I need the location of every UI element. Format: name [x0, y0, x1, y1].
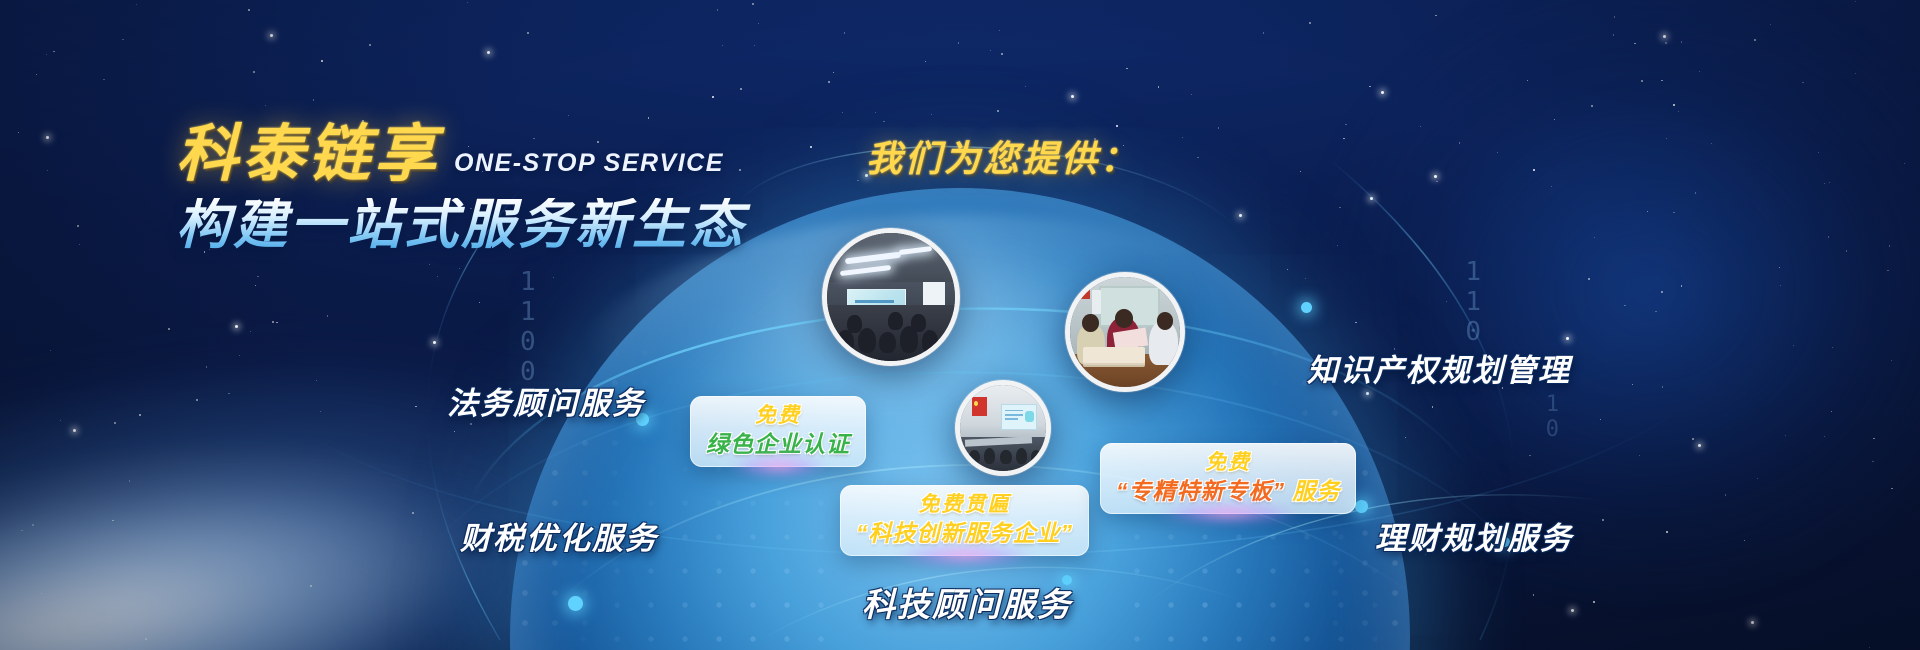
orbit-node [1301, 302, 1312, 313]
photo-training-hall [822, 228, 960, 366]
photo-classroom [955, 380, 1051, 476]
service-label-tech[interactable]: 科技顾问服务 [862, 578, 1072, 626]
headline-block: 科泰链享 ONE-STOP SERVICE 构建一站式服务新生态 [176, 124, 816, 252]
page-title: 科泰链享 [176, 124, 440, 186]
badge-green-enterprise[interactable]: 免费 绿色企业认证 [690, 396, 866, 467]
binary-decor: 10 [1546, 392, 1560, 443]
orbit-node [1355, 500, 1368, 513]
badge-line1: 免费 [1116, 451, 1340, 475]
service-label-finance[interactable]: 财税优化服务 [460, 513, 658, 558]
badge-glow [715, 451, 842, 481]
badge-plaque[interactable]: 免费贯匾 “科技创新服务企业” [840, 485, 1089, 556]
binary-decor: 110 [1465, 258, 1482, 348]
badge-line1: 免费 [706, 404, 850, 428]
page-subtitle: 构建一站式服务新生态 [176, 198, 816, 252]
binary-decor: 1100 [520, 268, 537, 388]
orbit-node [568, 596, 583, 611]
badge-line2-suffix: 服务 [1292, 478, 1340, 504]
page-title-en: ONE-STOP SERVICE [454, 149, 724, 186]
badge-glow [875, 540, 1054, 570]
service-label-wealth[interactable]: 理财规划服务 [1375, 513, 1573, 558]
service-label-legal[interactable]: 法务顾问服务 [447, 378, 645, 423]
promo-banner: 1100 110 10 1 科泰链享 ONE-STOP SERVICE 构建一站… [0, 0, 1920, 650]
photo-meeting-desk [1065, 272, 1185, 392]
badge-sme-board[interactable]: 免费 “专精特新专板” 服务 [1100, 443, 1356, 514]
service-label-ip[interactable]: 知识产权规划管理 [1307, 345, 1571, 390]
offer-heading: 我们为您提供： [866, 130, 1139, 182]
badge-line1: 免费贯匾 [856, 493, 1073, 517]
badge-glow [1136, 498, 1321, 528]
